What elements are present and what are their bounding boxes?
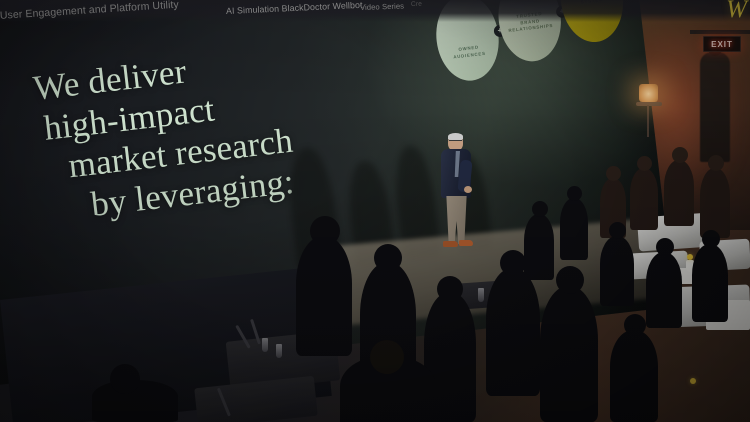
audience-member-head xyxy=(567,186,582,201)
foreground-audience-member-head xyxy=(437,276,463,302)
nav-item-cre[interactable]: Cre xyxy=(411,1,422,8)
audience-member xyxy=(646,252,682,328)
foreground-audience-member-head xyxy=(310,216,340,246)
exit-sign-label: EXIT xyxy=(711,40,733,49)
nav-item-video-series[interactable]: Video Series xyxy=(360,1,404,12)
audience-member-head xyxy=(532,201,548,217)
exit-sign: EXIT xyxy=(703,36,741,52)
speaker-hand xyxy=(464,186,472,193)
foreground-audience-member xyxy=(486,268,540,396)
audience-member-head xyxy=(708,155,724,171)
audience-member-head xyxy=(672,147,688,163)
presentation-screenshot: We deliver high-impact market research b… xyxy=(0,0,750,422)
drinking-glass xyxy=(276,344,282,358)
audience-member xyxy=(524,214,554,280)
foreground-audience-member xyxy=(296,236,352,356)
foreground-audience-member-head xyxy=(110,364,140,394)
standing-attendee xyxy=(700,52,730,162)
speaker-glasses xyxy=(449,140,462,144)
flower xyxy=(690,378,696,384)
audience-member xyxy=(560,198,588,260)
foreground-audience-member-head xyxy=(556,266,584,294)
nav-item-platform-utility[interactable]: ate User Engagement and Platform Utility xyxy=(0,0,179,22)
audience-member xyxy=(664,160,694,226)
speaker-hair xyxy=(448,133,463,140)
brand-logo-w[interactable]: W xyxy=(726,0,746,24)
flower xyxy=(687,254,693,260)
drinking-glass xyxy=(262,338,268,352)
foreground-audience-member-head xyxy=(500,250,526,276)
foreground-audience-member-head xyxy=(370,340,404,374)
speaker-shoe xyxy=(443,241,458,247)
lamp-side-table xyxy=(636,102,662,106)
audience-member xyxy=(630,168,658,230)
audience-member xyxy=(692,244,728,322)
speaker-shoe xyxy=(459,240,473,246)
audience-member-head xyxy=(637,156,652,171)
nav-item-ai-simulation-blackdoctor-wellbot[interactable]: AI Simulation BlackDoctor Wellbot xyxy=(226,0,363,16)
top-overlay-bar: ate User Engagement and Platform Utility… xyxy=(0,0,750,22)
audience-member xyxy=(610,330,658,422)
audience-member xyxy=(700,168,730,238)
audience-member-head xyxy=(624,314,646,336)
ceiling-beam xyxy=(690,30,750,34)
lamp-stem xyxy=(647,105,649,137)
table-lamp xyxy=(639,84,658,102)
audience-member-head xyxy=(656,238,674,256)
audience-member-head xyxy=(606,166,621,181)
drinking-glass xyxy=(478,288,484,302)
foreground-audience-member xyxy=(540,286,598,422)
foreground-audience-member-head xyxy=(374,244,402,272)
audience-member xyxy=(600,236,634,306)
audience-member-head xyxy=(609,222,626,239)
audience-member-head xyxy=(702,230,720,248)
